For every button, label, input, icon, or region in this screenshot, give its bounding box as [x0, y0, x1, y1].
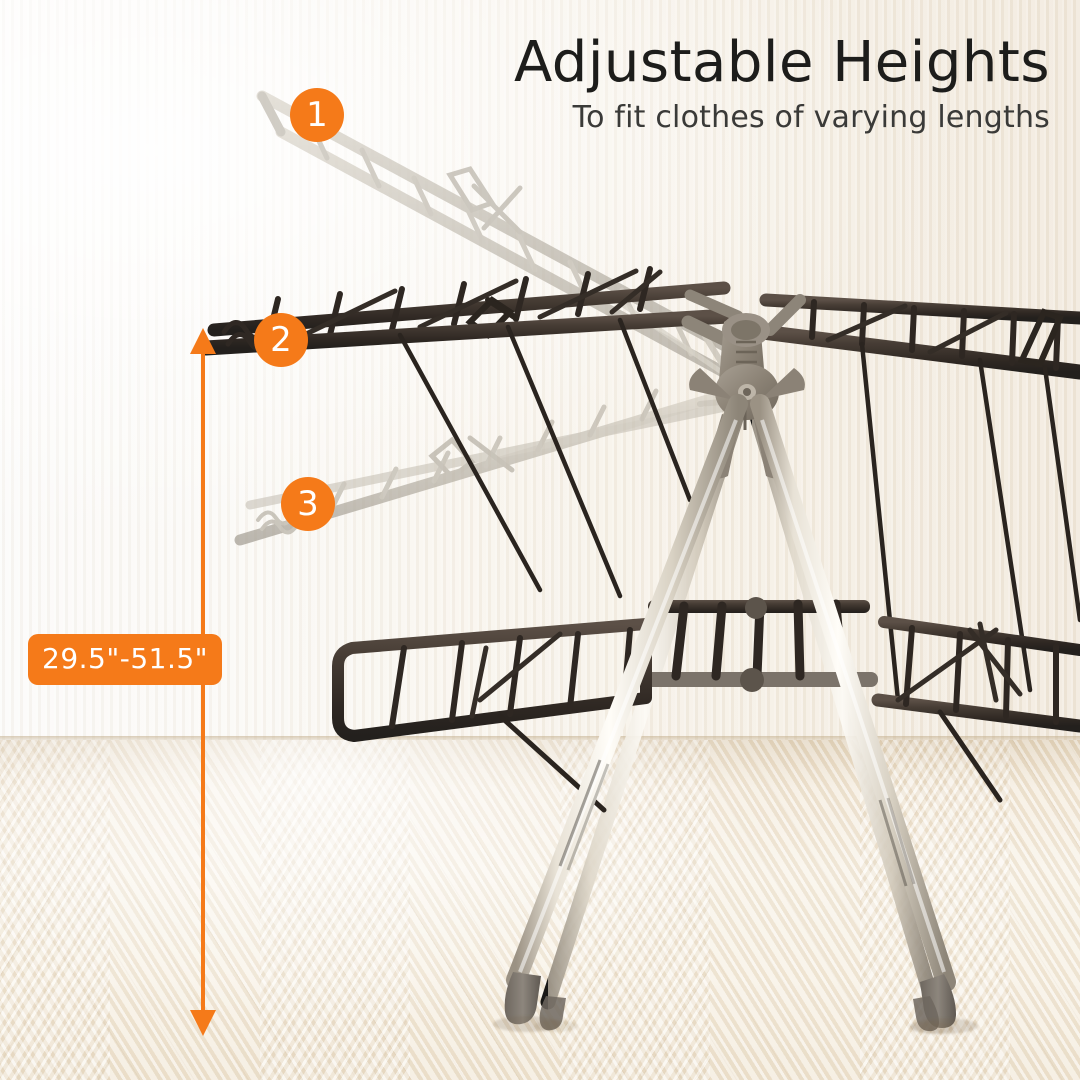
floor-shadows	[493, 1016, 978, 1034]
step-badge-2: 2	[254, 313, 308, 367]
step-badge-3: 3	[281, 477, 335, 531]
step-badge-1: 1	[290, 88, 344, 142]
wing-position-1-ghost	[262, 96, 760, 396]
arrowhead-down	[190, 1010, 216, 1036]
page-subtitle: To fit clothes of varying lengths	[573, 100, 1050, 135]
drying-rack-illustration	[0, 0, 1080, 1080]
product-infographic: Adjustable Heights To fit clothes of var…	[0, 0, 1080, 1080]
lower-right-shelf	[878, 622, 1080, 800]
height-range-label: 29.5"-51.5"	[28, 634, 222, 685]
arrowhead-up	[190, 328, 216, 354]
page-title: Adjustable Heights	[514, 30, 1050, 95]
